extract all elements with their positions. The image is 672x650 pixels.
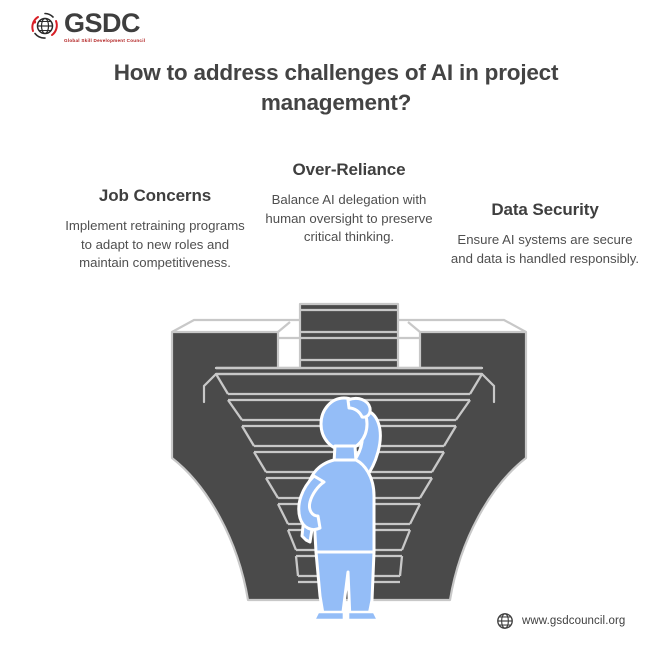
callout-body: Ensure AI systems are secure and data is… xyxy=(450,231,640,268)
gsdc-logo: GSDC Global Skill Development Council xyxy=(30,8,145,43)
callout-body: Implement retraining programs to adapt t… xyxy=(62,217,248,273)
callout-job-concerns: Job Concerns Implement retraining progra… xyxy=(62,186,248,273)
staircase-figure-graphic xyxy=(150,290,530,620)
footer: www.gsdcouncil.org xyxy=(496,612,625,630)
callout-title: Data Security xyxy=(450,200,640,220)
callout-body: Balance AI delegation with human oversig… xyxy=(256,191,442,247)
globe-icon xyxy=(496,612,514,630)
callout-over-reliance: Over-Reliance Balance AI delegation with… xyxy=(256,160,442,247)
callout-data-security: Data Security Ensure AI systems are secu… xyxy=(450,200,640,268)
logo-wordmark: GSDC xyxy=(64,10,145,37)
page-title: How to address challenges of AI in proje… xyxy=(86,58,586,117)
globe-icon xyxy=(30,11,60,41)
logo-text: GSDC Global Skill Development Council xyxy=(64,8,145,43)
callout-title: Job Concerns xyxy=(62,186,248,206)
footer-url: www.gsdcouncil.org xyxy=(522,615,625,627)
callout-title: Over-Reliance xyxy=(256,160,442,180)
person-facing-staircase-illustration xyxy=(150,290,530,620)
logo-tagline: Global Skill Development Council xyxy=(64,39,145,44)
